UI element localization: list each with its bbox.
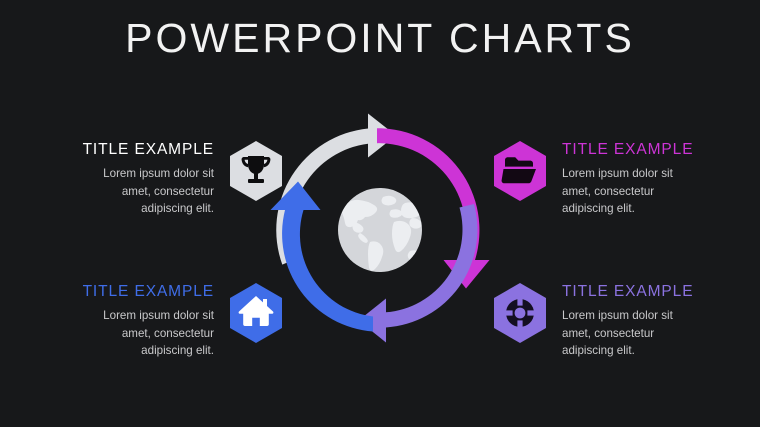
hexagon-badge-trophy[interactable]	[228, 140, 284, 202]
callout-title: TITLE EXAMPLE	[562, 140, 694, 160]
callout-text-block: TITLE EXAMPLE Lorem ipsum dolor sit amet…	[548, 282, 694, 360]
hexagon-badge-home[interactable]	[228, 282, 284, 344]
callout-text-block: TITLE EXAMPLE Lorem ipsum dolor sit amet…	[82, 282, 228, 360]
callout-title: TITLE EXAMPLE	[82, 282, 214, 302]
callout-body: Lorem ipsum dolor sit amet, consectetur …	[562, 307, 694, 360]
callout-text-block: TITLE EXAMPLE Lorem ipsum dolor sit amet…	[82, 140, 228, 218]
callout-bottom-left[interactable]: TITLE EXAMPLE Lorem ipsum dolor sit amet…	[82, 282, 284, 360]
folder-icon	[502, 157, 536, 183]
page-title: POWERPOINT CHARTS	[0, 14, 760, 62]
cycle-diagram	[250, 100, 510, 360]
slide-canvas: POWERPOINT CHARTS	[0, 0, 760, 427]
callout-title: TITLE EXAMPLE	[562, 282, 694, 302]
hexagon-badge-lifebuoy[interactable]	[492, 282, 548, 344]
callout-top-right[interactable]: TITLE EXAMPLE Lorem ipsum dolor sit amet…	[492, 140, 694, 218]
callout-body: Lorem ipsum dolor sit amet, consectetur …	[82, 307, 214, 360]
callout-body: Lorem ipsum dolor sit amet, consectetur …	[82, 165, 214, 218]
callout-text-block: TITLE EXAMPLE Lorem ipsum dolor sit amet…	[548, 140, 694, 218]
globe-icon	[338, 188, 423, 272]
hexagon-badge-folder[interactable]	[492, 140, 548, 202]
callout-body: Lorem ipsum dolor sit amet, consectetur …	[562, 165, 694, 218]
callout-bottom-right[interactable]: TITLE EXAMPLE Lorem ipsum dolor sit amet…	[492, 282, 694, 360]
callout-top-left[interactable]: TITLE EXAMPLE Lorem ipsum dolor sit amet…	[82, 140, 284, 218]
callout-title: TITLE EXAMPLE	[82, 140, 214, 160]
